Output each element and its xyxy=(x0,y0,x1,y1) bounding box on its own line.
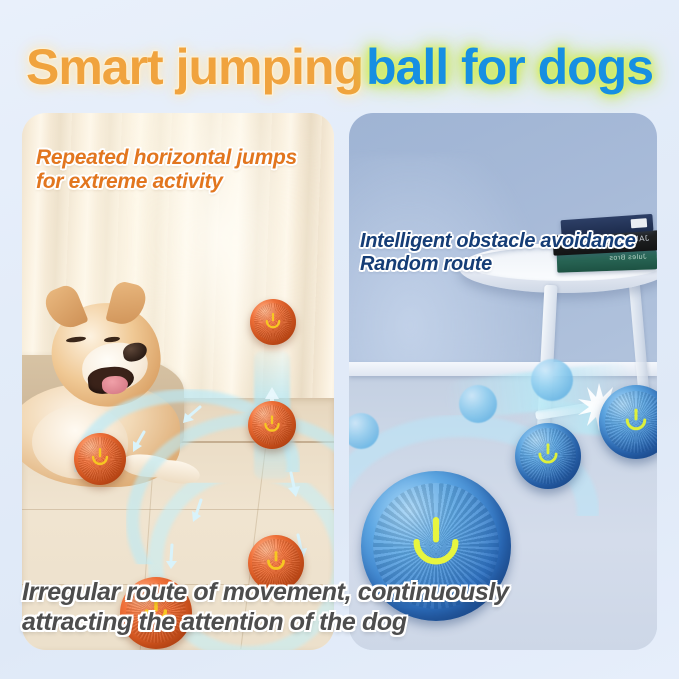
product-ball-orange xyxy=(250,299,296,345)
direction-arrow-icon xyxy=(282,471,304,499)
footer-caption: Irregular route of movement, continuousl… xyxy=(22,578,662,637)
direction-arrow-icon xyxy=(128,429,152,455)
title-part-ball-for-dogs: ball for dogs xyxy=(366,34,653,100)
left-panel-caption: Repeated horizontal jumps for extreme ac… xyxy=(36,146,297,195)
power-button-icon xyxy=(262,413,283,434)
motion-ghost-ball xyxy=(459,385,497,423)
product-ball-orange xyxy=(248,401,296,449)
power-button-icon xyxy=(264,549,288,573)
product-marketing-poster: Smart jumpingball for dogs xyxy=(0,0,679,679)
power-button-icon xyxy=(89,446,111,468)
right-panel-caption: Intelligent obstacle avoidance Random ro… xyxy=(360,230,636,276)
product-ball-blue xyxy=(515,423,581,489)
title-part-smart-jumping: Smart jumping xyxy=(26,34,363,100)
poster-title: Smart jumpingball for dogs xyxy=(0,34,679,102)
direction-arrow-icon xyxy=(188,497,210,525)
book-label-badge xyxy=(631,218,648,228)
product-ball-orange xyxy=(74,433,126,485)
direction-arrow-icon xyxy=(162,543,182,571)
power-button-icon xyxy=(622,406,650,434)
power-button-icon xyxy=(405,511,467,573)
power-button-icon xyxy=(535,441,561,467)
motion-ghost-ball xyxy=(531,359,573,401)
right-feature-panel: Jules Bros JAMES xyxy=(349,113,657,650)
direction-arrow-icon xyxy=(180,403,204,427)
power-button-icon xyxy=(263,311,283,331)
